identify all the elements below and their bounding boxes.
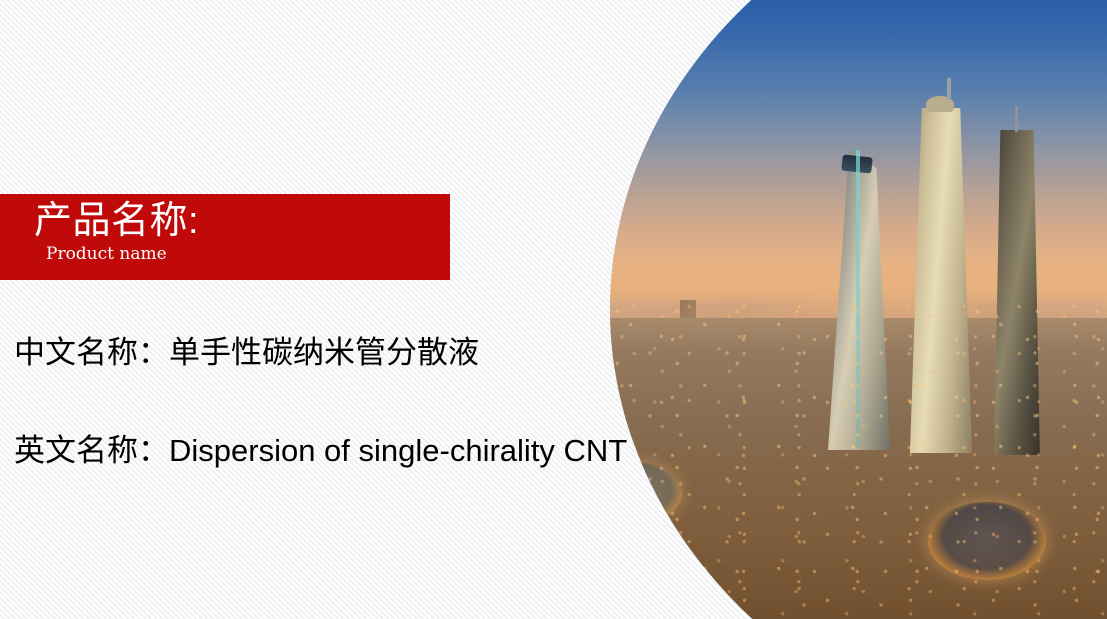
content-label-chinese-name: 中文名称： (14, 335, 169, 370)
banner-title-chinese: 产品名称: (34, 198, 450, 244)
skyline-photo-image (610, 0, 1107, 619)
content-line-english-name: 英文名称：Dispersion of single-chirality CNT (14, 431, 627, 471)
skyline-photo (610, 0, 1107, 619)
content-line-chinese-name: 中文名称：单手性碳纳米管分散液 (14, 333, 479, 373)
shanghai-tower-mast (947, 78, 951, 100)
banner-title-english: Product name (34, 243, 450, 265)
content-label-english-name: 英文名称： (14, 433, 169, 468)
content-value-english-name: Dispersion of single-chirality CNT (169, 433, 627, 468)
title-banner: 产品名称: Product name (0, 194, 450, 280)
slide-canvas: 产品名称: Product name 中文名称：单手性碳纳米管分散液 英文名称：… (0, 0, 1107, 619)
content-value-chinese-name: 单手性碳纳米管分散液 (169, 335, 479, 370)
jin-mao-tower-mast (1015, 106, 1018, 132)
